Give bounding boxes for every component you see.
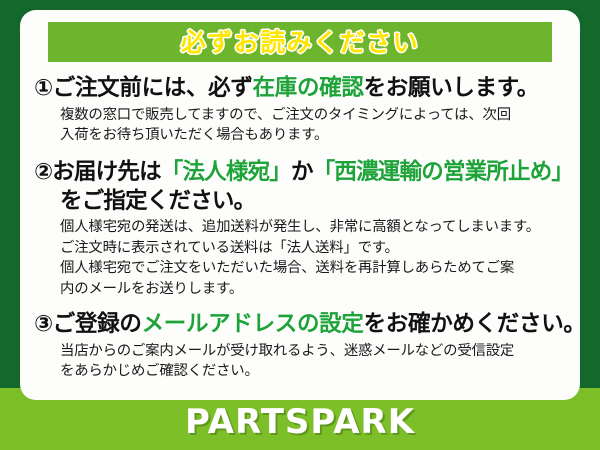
notice-item-1-number: ① — [34, 75, 53, 101]
notice-item-1-head-part-1: ご注文前には、必ず — [53, 75, 253, 101]
notice-item-1-head-part-3: をお願いします。 — [364, 75, 539, 101]
notice-item-2-head-part-3: か — [291, 159, 313, 185]
notice-item-1-body: 複数の窓口で販売してますので、ご注文のタイミングによっては、次回 入荷をお待ち頂… — [60, 105, 568, 146]
notice-item-2-highlight-2: 「西濃運輸の営業所止め」 — [313, 159, 573, 185]
notice-item-3-head-part-1: ご登録の — [53, 311, 142, 337]
notice-item-1-body-line-2: 入荷をお待ち頂いただく場合もあります。 — [60, 125, 568, 145]
notice-item-3-body-line-2: をあらかじめご確認ください。 — [60, 361, 568, 381]
notice-item-3-highlight: メールアドレスの設定 — [142, 311, 364, 337]
notice-item-2-number: ② — [34, 159, 52, 185]
notice-item-2-heading-line-2: をご指定ください。 — [60, 187, 568, 216]
notice-item-list: ①ご注文前には、必ず在庫の確認をお願いします。 複数の窓口で販売してますので、ご… — [20, 72, 580, 389]
notice-item-2-body: 個人様宅宛の発送は、追加送料が発生し、非常に高額となってしまいます。 ご注文時に… — [60, 217, 568, 299]
page-title: 必ずお読みください — [181, 30, 420, 55]
notice-item-1-body-line-1: 複数の窓口で販売してますので、ご注文のタイミングによっては、次回 — [60, 105, 568, 125]
notice-item-2-heading: ②お届け先は「法人様宛」か「西濃運輸の営業所止め」 — [34, 158, 568, 187]
title-band: 必ずお読みください — [48, 22, 552, 62]
notice-item-2-body-line-1: 個人様宅宛の発送は、追加送料が発生し、非常に高額となってしまいます。 — [60, 217, 568, 237]
notice-item-3-heading: ③ご登録のメールアドレスの設定をお確かめください。 — [34, 310, 568, 339]
notice-item-2-head-part-1: お届け先は — [52, 159, 161, 185]
notice-banner: 必ずお読みください ①ご注文前には、必ず在庫の確認をお願いします。 複数の窓口で… — [0, 0, 600, 450]
notice-item-2-highlight-1: 「法人様宛」 — [161, 159, 291, 185]
notice-item-3-number: ③ — [34, 311, 53, 337]
notice-item-2: ②お届け先は「法人様宛」か「西濃運輸の営業所止め」 をご指定ください。 個人様宅… — [34, 158, 568, 299]
notice-card: 必ずお読みください ①ご注文前には、必ず在庫の確認をお願いします。 複数の窓口で… — [20, 10, 580, 400]
notice-item-2-body-line-3: 個人様宅宛でご注文をいただいた場合、送料を再計算しあらためてご案 — [60, 258, 568, 278]
notice-item-3-head-part-3: をお確かめください。 — [364, 311, 580, 337]
notice-item-2-body-line-4: 内のメールをお送りします。 — [60, 279, 568, 299]
notice-item-1-highlight: 在庫の確認 — [253, 75, 364, 101]
brand-name: PARTSPARK — [185, 402, 415, 442]
notice-item-1-heading: ①ご注文前には、必ず在庫の確認をお願いします。 — [34, 74, 568, 103]
notice-item-3-body: 当店からのご案内メールが受け取れるよう、迷惑メールなどの受信設定 をあらかじめご… — [60, 341, 568, 382]
notice-item-2-body-line-2: ご注文時に表示されている送料は「法人送料」です。 — [60, 238, 568, 258]
brand-footer: PARTSPARK — [0, 402, 600, 442]
notice-item-1: ①ご注文前には、必ず在庫の確認をお願いします。 複数の窓口で販売してますので、ご… — [34, 74, 568, 146]
notice-item-3: ③ご登録のメールアドレスの設定をお確かめください。 当店からのご案内メールが受け… — [34, 310, 568, 382]
notice-item-3-body-line-1: 当店からのご案内メールが受け取れるよう、迷惑メールなどの受信設定 — [60, 341, 568, 361]
